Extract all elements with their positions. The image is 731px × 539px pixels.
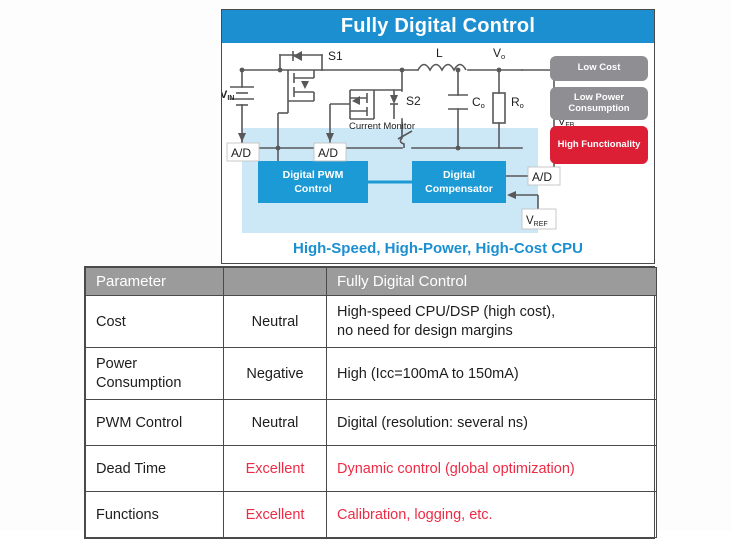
s2-diode	[390, 90, 398, 119]
label-adc-2: A/D	[318, 146, 338, 160]
label-co: Co	[472, 95, 485, 110]
cell-description: High (Icc=100mA to 150mA)	[327, 348, 657, 400]
slide-root: Fully Digital Control	[0, 0, 731, 531]
badge-low-power-label: Low Power Consumption	[554, 93, 644, 115]
comparison-table: Parameter Fully Digital Control Cost Neu…	[84, 266, 655, 539]
cell-parameter: Power Consumption	[86, 348, 224, 400]
table-header-row: Parameter Fully Digital Control	[86, 268, 657, 296]
cell-parameter: PWM Control	[86, 400, 224, 446]
badge-low-cost[interactable]: Low Cost	[550, 56, 648, 81]
panel-caption: High-Speed, High-Power, High-Cost CPU	[222, 240, 654, 257]
diagram-panel: Fully Digital Control	[221, 9, 655, 264]
label-adc-1: A/D	[231, 146, 251, 160]
s1-diode	[293, 51, 302, 61]
table-row: PWM Control Neutral Digital (resolution:…	[86, 400, 657, 446]
table-row: Dead Time Excellent Dynamic control (glo…	[86, 446, 657, 492]
cell-description: Dynamic control (global optimization)	[327, 446, 657, 492]
cell-description: High-speed CPU/DSP (high cost), no need …	[327, 296, 657, 348]
label-digital-pwm-2: Control	[294, 183, 331, 195]
label-s2: S2	[406, 94, 421, 108]
label-adc-3: A/D	[532, 170, 552, 184]
cell-rating: Neutral	[224, 400, 327, 446]
cell-description: Digital (resolution: several ns)	[327, 400, 657, 446]
label-ro: Ro	[511, 95, 524, 110]
capacitor-symbol	[448, 95, 468, 109]
label-s1: S1	[328, 49, 343, 63]
cell-rating: Excellent	[224, 446, 327, 492]
cell-description-line1: High-speed CPU/DSP (high cost),	[337, 303, 646, 321]
badge-low-power-consumption[interactable]: Low Power Consumption	[550, 87, 648, 120]
badge-high-functionality-label: High Functionality	[558, 140, 641, 151]
cell-parameter: Dead Time	[86, 446, 224, 492]
digital-pwm-block	[258, 161, 368, 203]
label-compensator-2: Compensator	[425, 183, 493, 195]
label-vin: VIN	[222, 89, 234, 102]
label-inductor: L	[436, 46, 443, 60]
header-rating	[224, 268, 327, 296]
digital-compensator-block	[412, 161, 506, 203]
resistor-symbol	[493, 93, 505, 123]
cell-rating: Negative	[224, 348, 327, 400]
label-current-monitor: Current Monitor	[349, 121, 415, 132]
header-parameter: Parameter	[86, 268, 224, 296]
panel-title: Fully Digital Control	[222, 10, 654, 43]
badge-high-functionality[interactable]: High Functionality	[550, 126, 648, 164]
header-fully-digital-control: Fully Digital Control	[327, 268, 657, 296]
cell-description-line2: no need for design margins	[337, 322, 646, 340]
label-vo: Vo	[493, 46, 505, 61]
table-row: Cost Neutral High-speed CPU/DSP (high co…	[86, 296, 657, 348]
cell-parameter: Cost	[86, 296, 224, 348]
cell-parameter-line1: Power	[96, 355, 213, 373]
cell-rating: Neutral	[224, 296, 327, 348]
label-compensator-1: Digital	[443, 169, 475, 181]
label-digital-pwm-1: Digital PWM	[283, 169, 344, 181]
table-row: Power Consumption Negative High (Icc=100…	[86, 348, 657, 400]
benefit-badges: Low Cost Low Power Consumption High Func…	[550, 56, 648, 170]
cell-parameter-line2: Consumption	[96, 374, 213, 392]
